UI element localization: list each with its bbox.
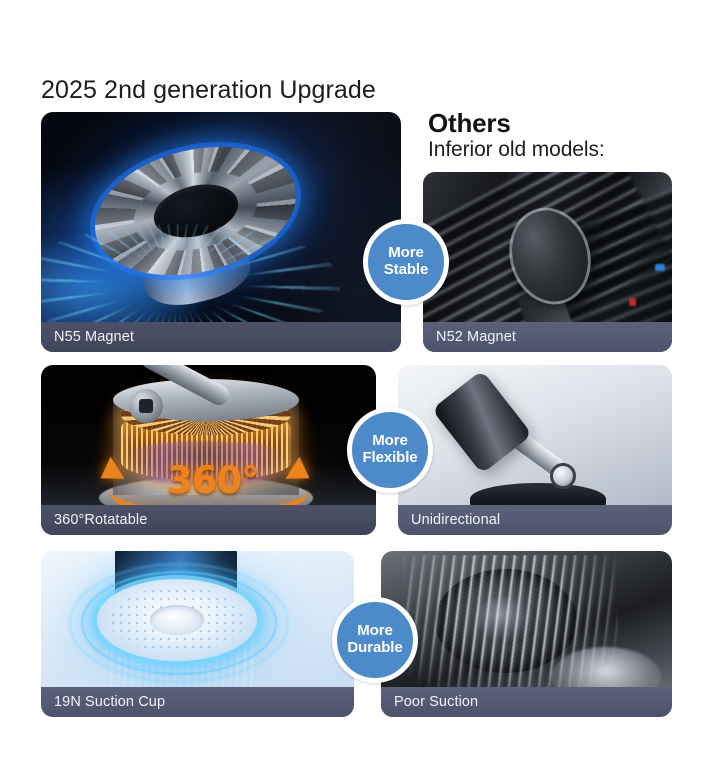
ours-panel-row3: 19N Suction Cup: [41, 551, 354, 717]
caption-poor-suction: Poor Suction: [381, 687, 672, 717]
ours-panel-row2: 360° 360°Rotatable: [41, 365, 376, 535]
caption-n55-magnet: N55 Magnet: [41, 322, 401, 352]
page-title: 2025 2nd generation Upgrade: [41, 76, 376, 105]
badge-label-row3: More Durable: [337, 623, 413, 657]
rotor-360-overlay-text: 360°: [167, 459, 259, 502]
badge-more-durable[interactable]: More Durable: [332, 597, 418, 683]
caption-360-rotatable: 360°Rotatable: [41, 505, 376, 535]
badge-circle-row3: More Durable: [332, 597, 418, 683]
others-title: Others: [428, 110, 605, 137]
product-comparison-infographic: 2025 2nd generation Upgrade Others Infer…: [0, 0, 713, 764]
badge-label-row1: More Stable: [368, 245, 444, 279]
caption-unidirectional: Unidirectional: [398, 505, 672, 535]
caption-n52-magnet: N52 Magnet: [423, 322, 672, 352]
badge-circle-row1: More Stable: [363, 219, 449, 305]
badge-more-flexible[interactable]: More Flexible: [347, 407, 433, 493]
badge-circle-row2: More Flexible: [347, 407, 433, 493]
magnet-ring-blue-energy-image: [41, 112, 401, 352]
theirs-panel-row1: N52 Magnet: [423, 172, 672, 352]
others-heading-block: Others Inferior old models:: [428, 110, 605, 161]
ours-panel-row1: N55 Magnet: [41, 112, 401, 352]
others-subtitle: Inferior old models:: [428, 139, 605, 161]
caption-19n-suction-cup: 19N Suction Cup: [41, 687, 354, 717]
badge-label-row2: More Flexible: [352, 433, 428, 467]
badge-more-stable[interactable]: More Stable: [363, 219, 449, 305]
theirs-panel-row2: Unidirectional: [398, 365, 672, 535]
theirs-panel-row3: Poor Suction: [381, 551, 672, 717]
